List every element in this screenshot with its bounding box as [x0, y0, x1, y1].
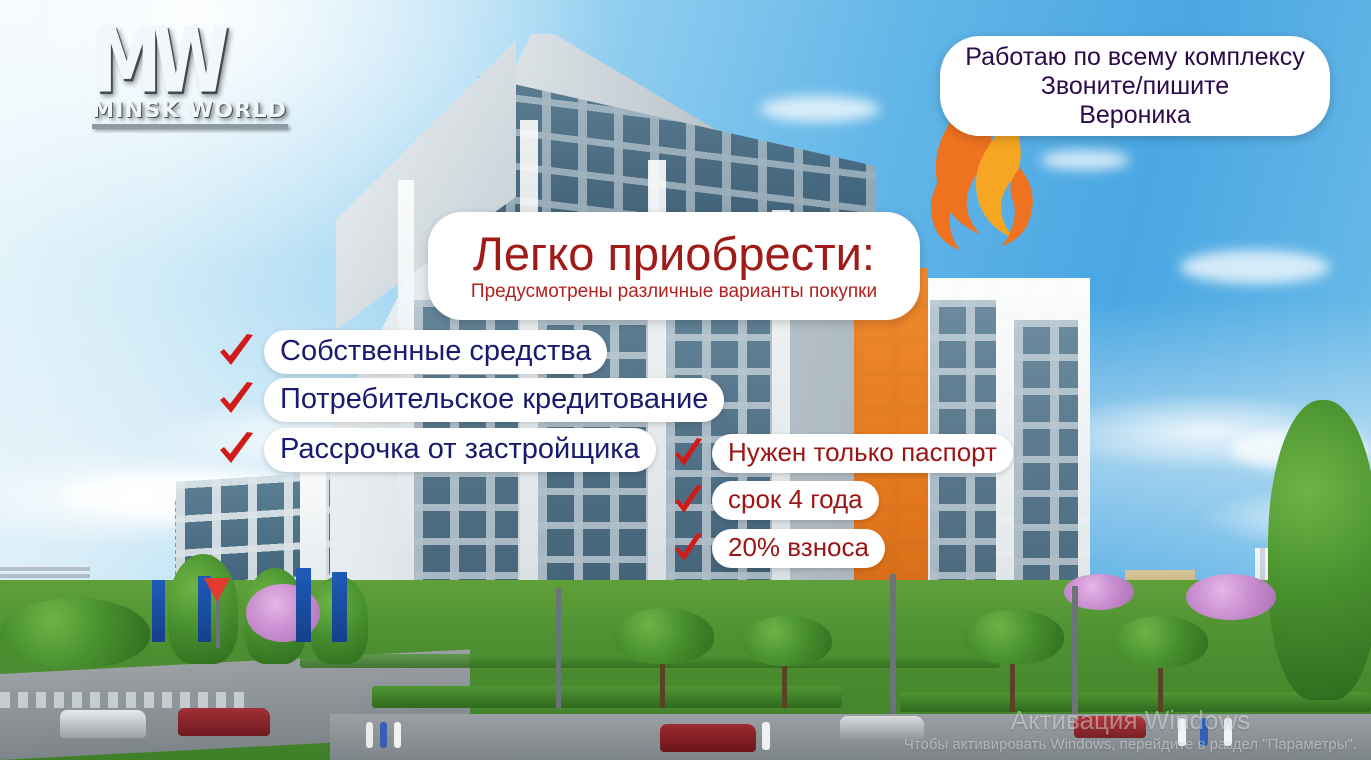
list-item-pill: Потребительское кредитование — [264, 378, 724, 422]
contact-line-2: Звоните/пишите — [1041, 72, 1229, 101]
blossom-tree — [1186, 574, 1276, 620]
pedestrian — [366, 722, 373, 748]
tree — [1112, 616, 1208, 668]
list-item[interactable]: Потребительское кредитование — [216, 378, 724, 422]
logo-monogram: MW — [92, 16, 294, 106]
list-item-label: Потребительское кредитование — [280, 383, 708, 415]
windows-activation-watermark: Активация Windows Чтобы активировать Win… — [904, 705, 1357, 754]
sign-post — [216, 596, 220, 648]
street-banner — [332, 572, 347, 642]
check-icon — [672, 437, 704, 471]
sub-list-item-label: 20% взноса — [728, 532, 869, 562]
sub-list-item[interactable]: Нужен только паспорт — [672, 434, 1013, 473]
sub-list-item-pill: 20% взноса — [712, 529, 885, 568]
check-icon — [216, 430, 256, 470]
tree — [0, 598, 150, 668]
tree — [1268, 400, 1371, 700]
tree — [742, 616, 832, 666]
lamp-post — [556, 588, 561, 708]
contact-line-1: Работаю по всему комплексу — [965, 43, 1304, 72]
car — [178, 708, 270, 736]
pedestrian — [380, 722, 387, 748]
parking-row — [0, 692, 250, 708]
page-title: Легко приобрести: — [473, 229, 875, 279]
tree — [964, 610, 1064, 664]
headline-callout: Легко приобрести: Предусмотрены различны… — [428, 212, 920, 320]
logo-wordmark: MINSK WORLD — [92, 98, 325, 122]
list-item-label: Рассрочка от застройщика — [280, 433, 640, 465]
sub-list-item-label: срок 4 года — [728, 484, 863, 514]
contact-line-3: Вероника — [1079, 101, 1191, 130]
sub-list-item-label: Нужен только паспорт — [728, 437, 997, 467]
watermark-subtitle: Чтобы активировать Windows, перейдите в … — [904, 735, 1357, 754]
car — [60, 710, 146, 738]
check-icon — [216, 380, 256, 420]
list-item[interactable]: Рассрочка от застройщика — [216, 428, 656, 472]
pedestrian — [394, 722, 401, 748]
page-subtitle: Предусмотрены различные варианты покупки — [471, 281, 877, 303]
cloud — [1180, 250, 1330, 284]
sub-list-item-pill: срок 4 года — [712, 481, 879, 520]
lamp-post — [1072, 586, 1078, 714]
check-icon — [672, 532, 704, 566]
hedge — [372, 686, 842, 708]
watermark-title: Активация Windows — [904, 705, 1357, 735]
check-icon — [672, 484, 704, 518]
list-item-label: Собственные средства — [280, 335, 591, 367]
list-item-pill: Рассрочка от застройщика — [264, 428, 656, 472]
list-item[interactable]: Собственные средства — [216, 330, 607, 374]
sub-list-item-pill: Нужен только паспорт — [712, 434, 1013, 473]
promo-image: MW MINSK WORLD Работаю по всему комплекс… — [0, 0, 1371, 760]
cloud — [1040, 150, 1130, 170]
logo-underline — [92, 124, 288, 129]
tree — [614, 608, 714, 664]
check-icon — [216, 332, 256, 372]
pedestrian — [762, 722, 770, 750]
car — [660, 724, 756, 752]
list-item-pill: Собственные средства — [264, 330, 607, 374]
minsk-world-logo: MW MINSK WORLD — [92, 16, 312, 128]
street-banner — [296, 568, 311, 642]
lamp-post — [890, 574, 896, 714]
sub-list-item[interactable]: срок 4 года — [672, 481, 879, 520]
sub-list-item[interactable]: 20% взноса — [672, 529, 885, 568]
contact-callout[interactable]: Работаю по всему комплексу Звоните/пишит… — [940, 36, 1330, 136]
street-banner — [152, 580, 165, 642]
cloud — [760, 96, 880, 122]
